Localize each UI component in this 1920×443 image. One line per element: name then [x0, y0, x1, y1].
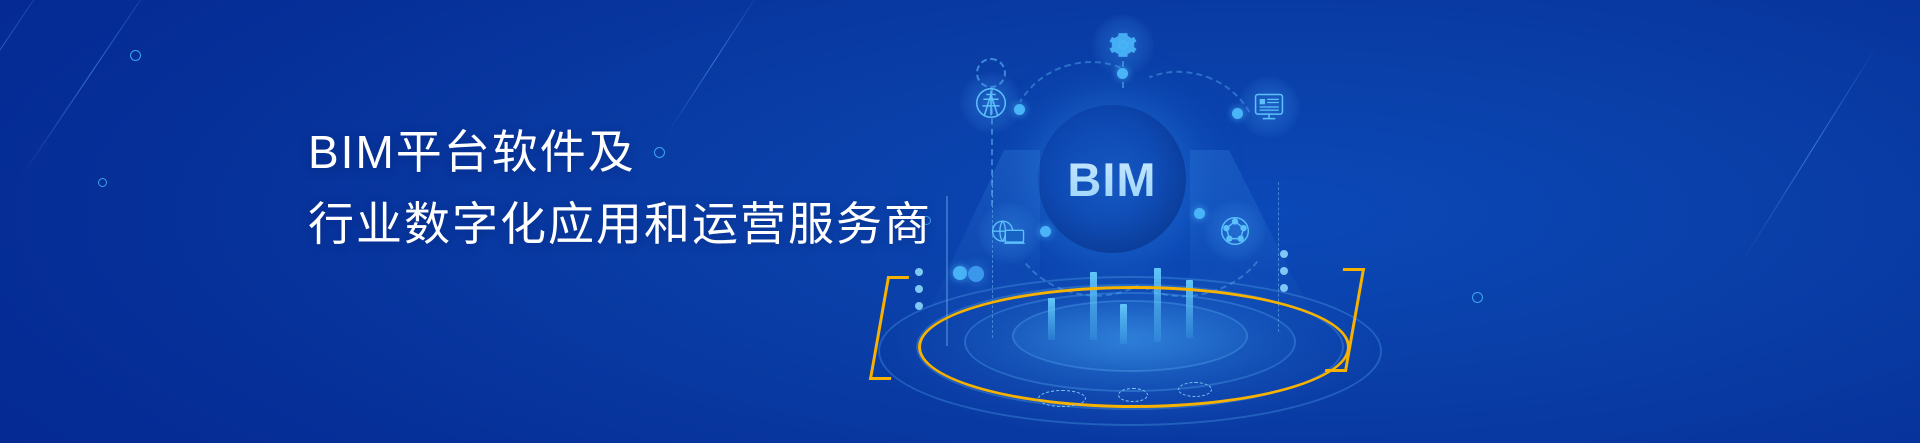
page-title: BIM平台软件及 行业数字化应用和运营服务商 [308, 116, 932, 260]
orbit-marker [1118, 388, 1148, 402]
decorative-circle-dot [98, 178, 107, 187]
network-node-icon[interactable] [1204, 200, 1266, 262]
headline-line-1: BIM平台软件及 [308, 116, 932, 188]
gear-icon[interactable] [1092, 14, 1154, 76]
decorative-circle-dot [1472, 292, 1483, 303]
connector-node [1117, 68, 1128, 79]
orbit-marker [1178, 382, 1212, 397]
connector-node [953, 266, 967, 280]
decorative-diagonal-line [0, 0, 61, 209]
connector-node [1232, 108, 1243, 119]
decorative-circle-dot [130, 50, 141, 61]
hero-banner: BIM平台软件及 行业数字化应用和运营服务商 BIM [0, 0, 1920, 443]
bim-illustration: BIM [860, 0, 1400, 443]
decorative-diagonal-line [667, 0, 761, 133]
connector-node [1040, 226, 1051, 237]
connector-node [1194, 208, 1205, 219]
globe-laptop-icon[interactable] [978, 202, 1040, 264]
orbit-marker [1038, 390, 1086, 407]
connector-node [1014, 104, 1025, 115]
decorative-diagonal-line [20, 0, 161, 178]
decorative-diagonal-line [1742, 40, 1881, 261]
monitor-icon[interactable] [1238, 76, 1300, 138]
headline-line-2: 行业数字化应用和运营服务商 [308, 188, 932, 260]
decorative-node [968, 266, 984, 282]
power-tower-icon[interactable] [960, 72, 1022, 134]
